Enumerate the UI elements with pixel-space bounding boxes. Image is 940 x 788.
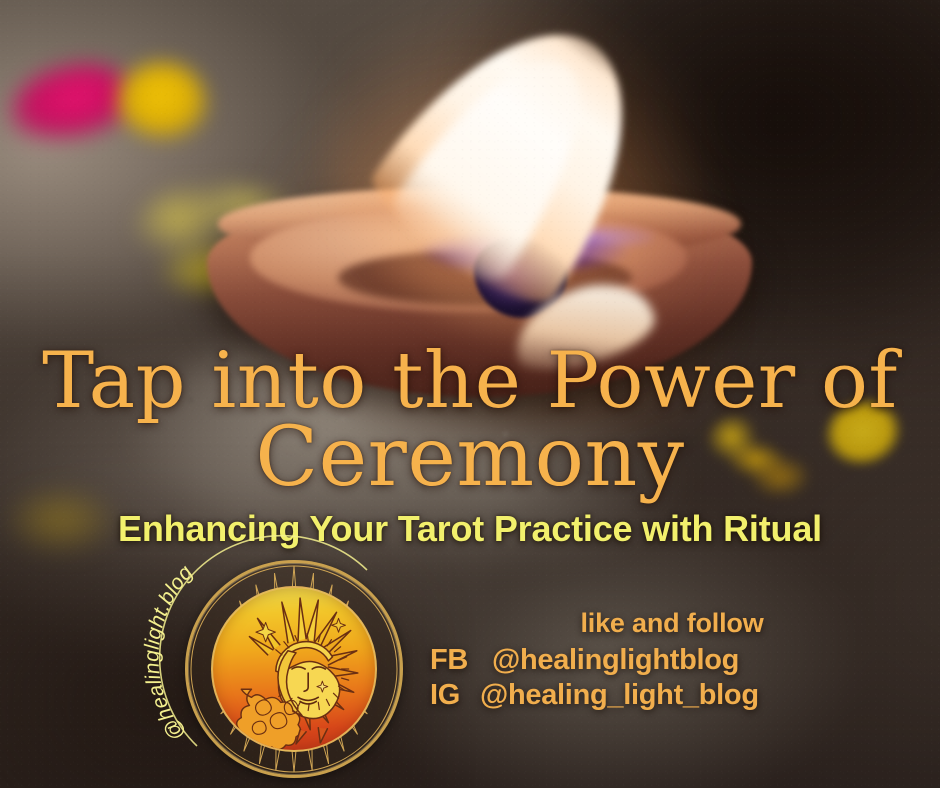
- instagram-label: IG: [430, 679, 480, 712]
- yellow-flower-petal-upper: [118, 63, 207, 138]
- instagram-handle[interactable]: @healing_light_blog: [480, 679, 759, 712]
- headline-line-1: Tap into the Power of: [0, 344, 940, 419]
- healing-light-logo-badge[interactable]: @healinglight.blog: [185, 560, 403, 778]
- sun-moon-face-icon: [213, 588, 375, 750]
- promo-graphic-canvas: Tap into the Power of Ceremony Enhancing…: [0, 0, 940, 788]
- headline-line-2: Ceremony: [0, 419, 940, 498]
- headline-title: Tap into the Power of Ceremony: [0, 344, 940, 498]
- logo-emblem-disc: [211, 586, 377, 752]
- social-heading: like and follow: [430, 608, 900, 639]
- subtitle: Enhancing Your Tarot Practice with Ritua…: [0, 508, 940, 550]
- social-row-instagram[interactable]: IG @healing_light_blog: [430, 679, 900, 712]
- social-row-facebook[interactable]: FB @healinglightblog: [430, 644, 900, 677]
- facebook-handle[interactable]: @healinglightblog: [492, 644, 739, 677]
- social-follow-block: like and follow FB @healinglightblog IG …: [430, 608, 900, 714]
- facebook-label: FB: [430, 644, 492, 677]
